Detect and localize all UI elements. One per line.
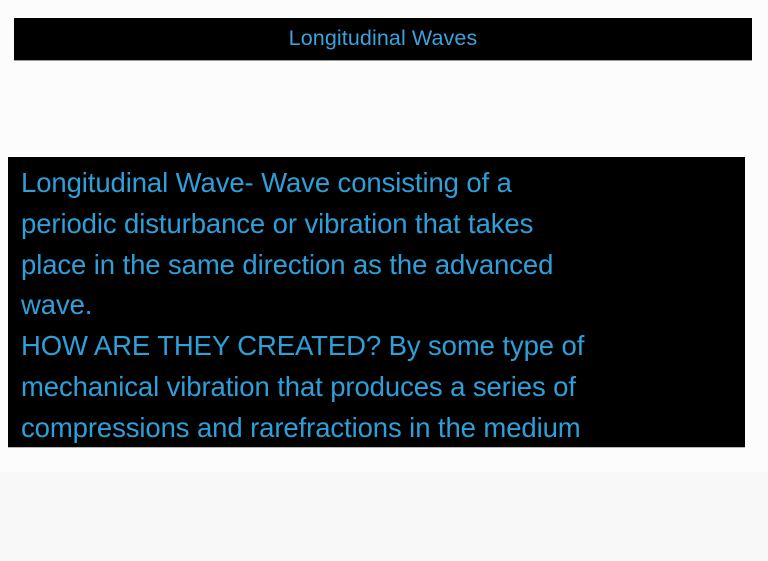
slide-body-text: Longitudinal Wave- Wave consisting of a …: [21, 163, 745, 447]
slide-title-bar: Longitudinal Waves: [14, 18, 752, 60]
page-title: Longitudinal Waves: [289, 28, 478, 50]
slide-content-box: Longitudinal Wave- Wave consisting of a …: [8, 157, 745, 447]
page-lower-band: [0, 472, 768, 561]
slide-canvas: Longitudinal Waves Longitudinal Wave- Wa…: [0, 0, 768, 561]
